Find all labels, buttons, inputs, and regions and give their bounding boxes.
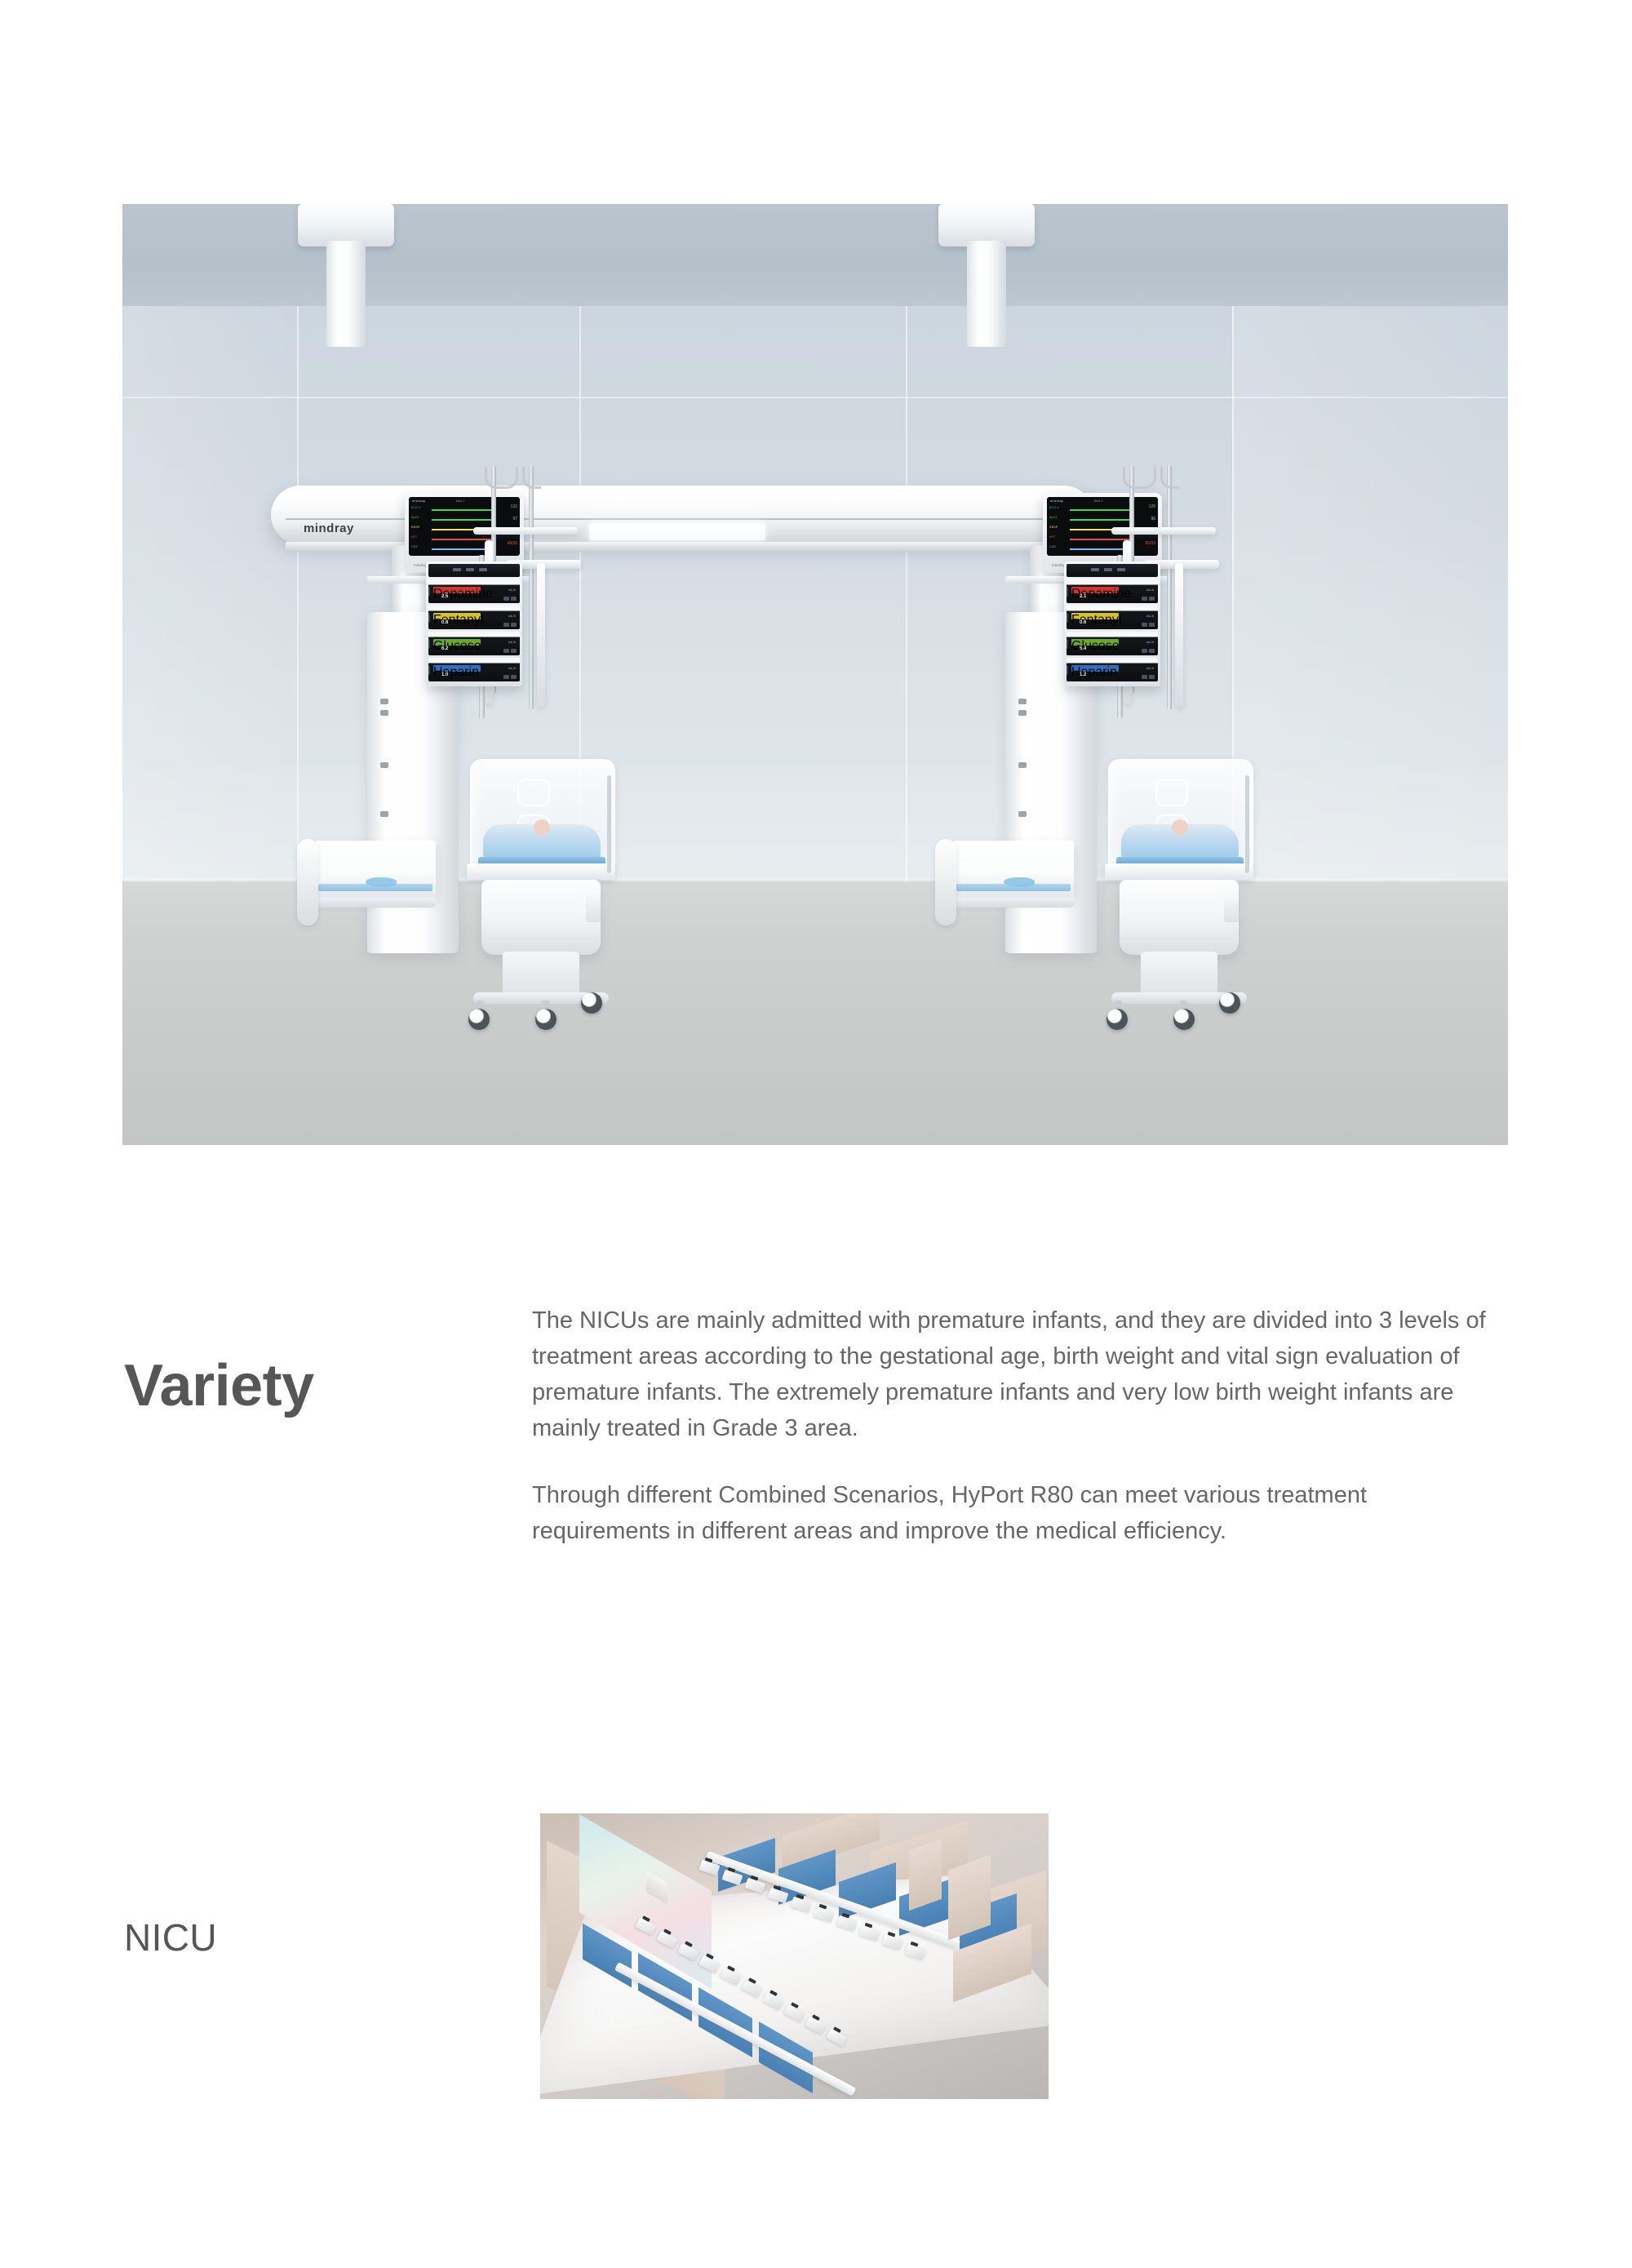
wall-seam-vertical: [297, 306, 299, 881]
paragraph-2: Through different Combined Scenarios, Hy…: [532, 1477, 1508, 1549]
drawer-arm-left: [297, 839, 318, 925]
pump-keypad[interactable]: [1142, 623, 1155, 627]
left-station-key: [380, 811, 388, 817]
supply-drawer-left[interactable]: [315, 841, 436, 898]
infant-incubator-left[interactable]: [463, 759, 619, 1036]
pump-rate-value: 6.2: [441, 646, 448, 651]
pump-rail-clip: [1067, 639, 1068, 649]
waveform-ecg-left: [432, 509, 494, 511]
infusion-pump-channel-3-right[interactable]: Glucose 5.4 mL/h: [1067, 632, 1158, 655]
infant-head-left: [534, 819, 550, 836]
infusion-pump-channel-2-left[interactable]: Fentanyl 0.8 mL/h: [428, 606, 520, 629]
accessory-rail-left: [537, 563, 545, 707]
pump-rail-clip: [1067, 613, 1068, 623]
incubator-base-right: [1120, 880, 1239, 955]
pump-controller-button[interactable]: [479, 568, 487, 571]
incubator-tray-left: [467, 863, 615, 880]
accessory-shelf-left: [473, 527, 578, 535]
pump-rate-value: 1.0: [441, 672, 448, 677]
caster-wheel-left: [581, 992, 602, 1014]
monitor-brand-left: mindray: [412, 499, 425, 503]
caster-wheel-right: [1173, 1009, 1195, 1030]
pump-drug-bar: Dopamine: [1071, 587, 1119, 593]
waveform-label-spo2-left: SpO2: [411, 516, 419, 519]
wall-panel: [122, 306, 297, 881]
pump-drug-bar: Fentanyl: [1071, 613, 1119, 619]
pump-drug-bar: Heparin: [1071, 665, 1119, 672]
pump-stack-left[interactable]: Dopamine 2.5 mL/h Fentanyl 0.8 mL/h Gluc…: [426, 561, 522, 686]
incubator-access-port[interactable]: [1155, 779, 1188, 806]
pump-controller-button[interactable]: [453, 568, 461, 571]
right-station-key: [1018, 710, 1027, 716]
infusion-pump-channel-1-right[interactable]: Dopamine 2.1 mL/h: [1067, 579, 1158, 603]
right-station-key: [1018, 762, 1027, 768]
pump-rate-value: 2.5: [441, 594, 448, 599]
incubator-column-right: [1141, 952, 1217, 997]
ceiling-mount-post-right: [967, 241, 1006, 347]
pump-keypad[interactable]: [1142, 649, 1155, 653]
pump-stack-right[interactable]: Dopamine 2.1 mL/h Fentanyl 0.6 mL/h Gluc…: [1064, 561, 1160, 686]
pump-rate-value: 0.6: [1080, 620, 1086, 625]
caster-wheel-right: [1219, 992, 1240, 1014]
pump-keypad[interactable]: [1142, 675, 1155, 679]
pump-controller-button[interactable]: [466, 568, 474, 571]
pump-rate-units: mL/h: [1146, 614, 1154, 618]
waveform-label-co2-right: CO2: [1049, 545, 1056, 548]
pump-rail-clip: [428, 587, 430, 597]
pump-rail-clip: [1067, 587, 1068, 597]
iv-pole-right: [1167, 465, 1172, 710]
incubator-tubing-right: [1245, 775, 1249, 873]
iv-hook-right: [1160, 467, 1179, 489]
monitor-screen-left: mindray Bed 1 ECG II SpO2 RESP ART CO2 1…: [409, 497, 520, 556]
accessory-shelf-right: [1111, 527, 1216, 535]
bridge-light-panel: [589, 523, 765, 540]
infusion-pump-channel-4-left[interactable]: Heparin 1.0 mL/h: [428, 658, 520, 681]
pump-rate-units: mL/h: [1146, 588, 1154, 592]
left-station-key: [380, 762, 388, 768]
wall-seam-vertical: [906, 306, 907, 881]
pump-rate-value: 1.2: [1080, 672, 1086, 677]
pump-rail-clip: [1067, 665, 1068, 675]
pump-keypad[interactable]: [503, 597, 517, 601]
pump-rate-units: mL/h: [508, 640, 516, 644]
waveform-label-ecg-right: ECG II: [1049, 506, 1059, 509]
right-station-key: [1018, 811, 1027, 817]
supply-drawer-foot-right: [953, 898, 1074, 908]
monitor-title-right: Bed 2: [1094, 499, 1102, 503]
waveform-label-co2-left: CO2: [411, 545, 418, 548]
waveform-label-spo2-right: SpO2: [1049, 516, 1058, 519]
pump-drug-bar: Dopamine: [433, 587, 481, 593]
infusion-pump-channel-3-left[interactable]: Glucose 6.2 mL/h: [428, 632, 520, 655]
nicu-ward-thumbnail[interactable]: [540, 1813, 1049, 2099]
incubator-tubing-left: [607, 775, 611, 873]
pump-keypad[interactable]: [503, 623, 517, 627]
waveform-spo2-right: [1070, 519, 1132, 521]
ceiling-mount-post-left: [326, 241, 366, 347]
pump-rail-clip: [428, 665, 430, 675]
scenario-label-nicu: NICU: [124, 1919, 217, 1956]
pump-keypad[interactable]: [503, 675, 517, 679]
page-title: Variety: [124, 1356, 314, 1415]
monitor-screen-right: mindray Bed 2 ECG II SpO2 RESP ART CO2 1…: [1047, 497, 1158, 556]
waveform-art-left: [432, 539, 494, 540]
monitor-title-left: Bed 1: [456, 499, 464, 503]
pump-rate-value: 2.1: [1080, 594, 1086, 599]
monitor-bezel-brand-right: mindray: [1052, 563, 1065, 567]
caster-wheel-right: [1106, 1009, 1128, 1030]
incubator-control-panel-right[interactable]: [1224, 890, 1239, 922]
pump-controller-right[interactable]: [1067, 564, 1158, 577]
left-station-key: [380, 699, 388, 704]
pump-drug-bar: Glucose: [433, 639, 481, 646]
pump-controller-left[interactable]: [428, 564, 520, 577]
monitor-brand-right: mindray: [1050, 499, 1063, 503]
pump-drug-bar: Fentanyl: [433, 613, 481, 619]
body-copy: The NICUs are mainly admitted with prema…: [532, 1303, 1508, 1549]
pump-rate-units: mL/h: [508, 666, 516, 670]
iv-hook-left: [522, 467, 541, 489]
left-station-key: [380, 710, 388, 716]
drawer-contents-blob-left: [366, 877, 397, 887]
paragraph-1: The NICUs are mainly admitted with prema…: [532, 1303, 1508, 1446]
waveform-label-ecg-left: ECG II: [411, 506, 421, 509]
accessory-rail-right: [1175, 563, 1183, 707]
caster-wheel-left: [468, 1009, 490, 1030]
incubator-access-port[interactable]: [517, 779, 550, 806]
waveform-spo2-left: [432, 519, 494, 521]
monitor-bezel-brand-left: mindray: [414, 563, 427, 567]
right-station-key: [1018, 699, 1027, 704]
waveform-art-right: [1070, 539, 1132, 540]
pump-rail-clip: [428, 613, 430, 623]
pump-rate-units: mL/h: [1146, 640, 1154, 644]
pump-drug-bar: Heparin: [433, 665, 481, 672]
pump-keypad[interactable]: [1142, 597, 1155, 601]
caster-wheel-left: [535, 1009, 557, 1030]
pump-rate-value: 5.4: [1080, 646, 1086, 651]
supply-drawer-right[interactable]: [953, 841, 1074, 898]
room-floor: [122, 881, 1508, 1145]
infant-incubator-right[interactable]: [1102, 759, 1257, 1036]
waveform-label-art-right: ART: [1049, 535, 1056, 539]
waveform-label-resp-left: RESP: [411, 526, 419, 529]
waveform-label-art-left: ART: [411, 535, 418, 539]
infant-head-right: [1172, 819, 1188, 836]
infusion-pump-channel-1-left[interactable]: Dopamine 2.5 mL/h: [428, 579, 520, 603]
pump-controller-button[interactable]: [1104, 568, 1112, 571]
pump-rate-units: mL/h: [508, 588, 516, 592]
pump-drug-bar: Glucose: [1071, 639, 1119, 646]
iv-pole-left: [529, 465, 534, 710]
incubator-tray-right: [1105, 863, 1253, 880]
waveform-label-resp-right: RESP: [1049, 526, 1058, 529]
pump-keypad[interactable]: [503, 649, 517, 653]
ward-partition: [909, 1839, 942, 1911]
wall-panel: [1232, 306, 1508, 881]
waveform-ecg-right: [1070, 509, 1132, 511]
pump-rate-value: 0.8: [441, 620, 448, 625]
incubator-base-left: [481, 880, 601, 955]
mindray-logo: mindray: [304, 522, 354, 535]
pump-rate-units: mL/h: [1146, 666, 1154, 670]
pump-rate-units: mL/h: [508, 614, 516, 618]
pump-controller-button[interactable]: [1117, 568, 1125, 571]
infusion-pump-channel-2-right[interactable]: Fentanyl 0.6 mL/h: [1067, 606, 1158, 629]
pump-controller-button[interactable]: [1091, 568, 1099, 571]
pendant-bridge-beam: mindray: [271, 486, 1093, 544]
pump-rail-clip: [428, 639, 430, 649]
incubator-column-left: [503, 952, 579, 997]
incubator-control-panel-left[interactable]: [586, 890, 601, 922]
infusion-pump-channel-4-right[interactable]: Heparin 1.2 mL/h: [1067, 658, 1158, 681]
drawer-arm-right: [935, 839, 956, 925]
hero-image: mindray mindray Bed 1 ECG II SpO2 RESP A…: [122, 204, 1508, 1145]
drawer-contents-blob-right: [1004, 877, 1035, 887]
supply-drawer-foot-left: [315, 898, 436, 908]
